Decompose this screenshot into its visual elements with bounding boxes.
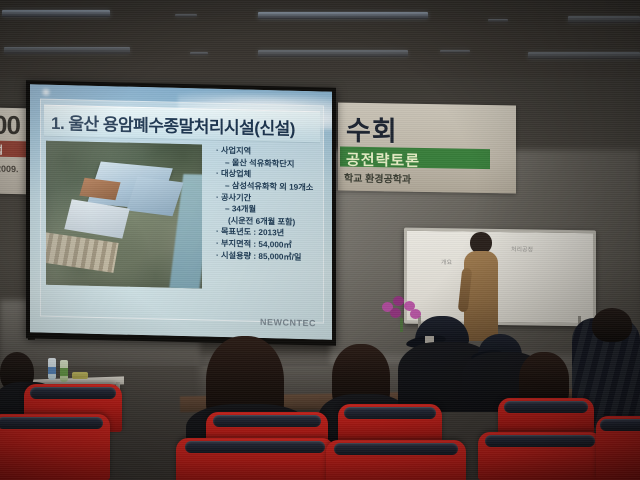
slide-bullet-list: · 사업지역 – 울산 석유화학단지 · 대상업체 – 삼성석유화학 외 19개… [214, 145, 318, 264]
slide-aerial-photo [46, 141, 202, 289]
banner-left-red-text: 업 [0, 142, 3, 158]
seat-headrest [30, 387, 116, 399]
seat-headrest [344, 407, 436, 419]
banner-left-year: 2009. [0, 164, 19, 174]
banner-left-number: 00 [0, 110, 20, 142]
presenter-at-whiteboard [462, 232, 500, 340]
seat-headrest [334, 443, 457, 455]
banner-right-green-text: 공전략토론 [346, 149, 420, 171]
seat-headrest [504, 401, 588, 413]
banner-right-title: 수회 [346, 109, 398, 149]
snack-item [72, 372, 88, 379]
whiteboard: 개요 처리공정 [404, 228, 596, 327]
banner-right: 수회 공전략토론 학교 환경공학과 [338, 102, 516, 193]
auditorium-seat[interactable] [326, 440, 466, 480]
water-bottle [48, 358, 56, 380]
projection-screen: 1. 울산 용암폐수종말처리시설(신설) · 사업지역 – 울산 석유화학단지 … [30, 84, 332, 339]
projection-screen-frame: 1. 울산 용암폐수종말처리시설(신설) · 사업지역 – 울산 석유화학단지 … [26, 80, 336, 346]
ceiling-light-fixture [2, 10, 110, 17]
ceiling-light-fixture [4, 47, 130, 54]
whiteboard-note-left: 개요 [441, 257, 452, 266]
slide-title-bar: 1. 울산 용암폐수종말처리시설(신설) [44, 105, 320, 144]
audience-head [592, 308, 632, 342]
ceiling-light-fixture [568, 16, 640, 23]
ceiling-light-fixture [258, 12, 428, 19]
beverage-bottle [60, 360, 68, 382]
seat-headrest [485, 435, 594, 447]
ceiling-vent [190, 52, 208, 55]
auditorium-seat[interactable] [338, 404, 442, 444]
auditorium-seat[interactable] [0, 414, 110, 480]
presentation-slide: 1. 울산 용암폐수종말처리시설(신설) · 사업지역 – 울산 석유화학단지 … [30, 84, 332, 339]
ceiling-vent [175, 14, 197, 17]
lecture-hall-photo: 00 업 2009. 수회 공전략토론 학교 환경공학과 1. 울산 용암폐수종… [0, 0, 640, 480]
auditorium-seat[interactable] [596, 416, 640, 480]
ceiling-speaker [440, 50, 470, 53]
ceiling [0, 0, 640, 78]
flower-blossom [393, 296, 404, 306]
auditorium-seat[interactable] [478, 432, 602, 480]
whiteboard-note-right: 처리공정 [511, 244, 533, 253]
seat-headrest [185, 441, 324, 453]
ceiling-vent [488, 19, 508, 22]
auditorium-seat[interactable] [498, 398, 594, 436]
auditorium-seat[interactable] [176, 438, 334, 480]
flower-stem [400, 318, 403, 332]
slide-title: 1. 울산 용암폐수종말처리시설(신설) [51, 109, 295, 140]
seat-headrest [600, 419, 640, 431]
seat-headrest [0, 417, 103, 429]
ceiling-light-fixture [258, 50, 408, 57]
flower-blossom [390, 308, 401, 318]
projector-glare [40, 88, 52, 97]
seat-headrest [213, 415, 320, 427]
ceiling-light-fixture [528, 52, 640, 59]
flower-blossom [410, 309, 421, 319]
slide-company-logo: NEWCNTEC [260, 317, 316, 328]
banner-right-green-band: 공전략토론 [340, 146, 490, 169]
banner-right-subtitle: 학교 환경공학과 [344, 170, 411, 186]
